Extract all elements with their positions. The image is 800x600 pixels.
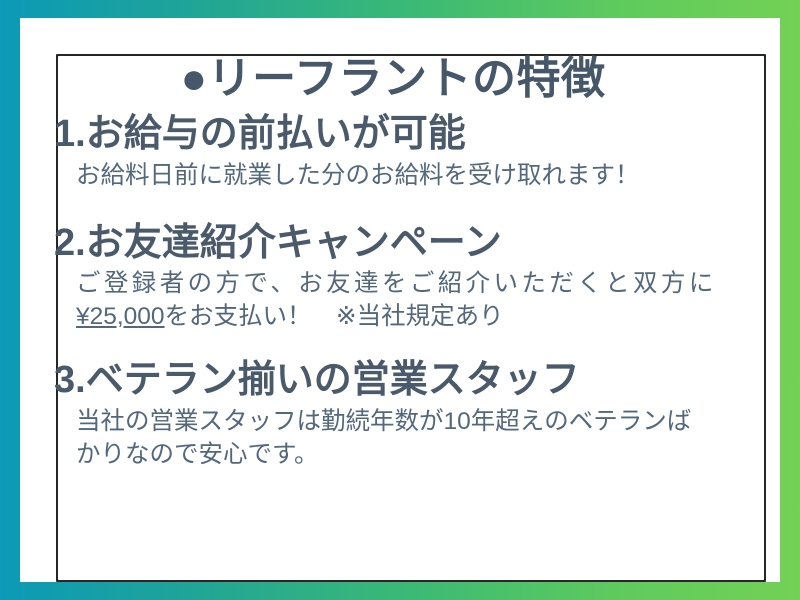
slide-root: ●リーフラントの特徴 1.お給与の前払いが可能 お給料日前に就業した分のお給料を… [0, 0, 800, 600]
feature-item-1: 1.お給与の前払いが可能 お給料日前に就業した分のお給料を受け取れます！ [54, 111, 732, 191]
feature-item-1-body: お給料日前に就業した分のお給料を受け取れます！ [54, 159, 732, 192]
feature-item-3-heading: 3.ベテラン揃いの営業スタッフ [54, 357, 732, 403]
feature-item-2-line-2-rest: をお支払い！ ※当社規定あり [165, 303, 504, 330]
feature-item-1-line-1: お給料日前に就業した分のお給料を受け取れます！ [76, 159, 732, 192]
slide-content: ●リーフラントの特徴 1.お給与の前払いが可能 お給料日前に就業した分のお給料を… [36, 36, 746, 564]
feature-item-3-line-2: かりなので安心です。 [76, 438, 732, 471]
spacer-2 [54, 339, 732, 357]
referral-bonus-amount: ¥25,000 [76, 303, 165, 330]
feature-item-3-line-1: 当社の営業スタッフは勤続年数が10年超えのベテランば [76, 405, 732, 438]
feature-item-2-body: ご登録者の方で、お友達をご紹介いただくと双方に ¥25,000をお支払い！ ※当… [54, 267, 732, 333]
page-title: ●リーフラントの特徴 [54, 54, 732, 103]
feature-item-2-line-1: ご登録者の方で、お友達をご紹介いただくと双方に [76, 267, 732, 300]
feature-item-2-line-2: ¥25,000をお支払い！ ※当社規定あり [76, 300, 732, 333]
spacer-1 [54, 198, 732, 220]
feature-item-3: 3.ベテラン揃いの営業スタッフ 当社の営業スタッフは勤続年数が10年超えのベテラ… [54, 357, 732, 470]
feature-item-2-heading: 2.お友達紹介キャンペーン [54, 220, 732, 266]
feature-item-2: 2.お友達紹介キャンペーン ご登録者の方で、お友達をご紹介いただくと双方に ¥2… [54, 220, 732, 333]
feature-item-3-body: 当社の営業スタッフは勤続年数が10年超えのベテランば かりなので安心です。 [54, 405, 732, 471]
feature-item-1-heading: 1.お給与の前払いが可能 [54, 111, 732, 157]
